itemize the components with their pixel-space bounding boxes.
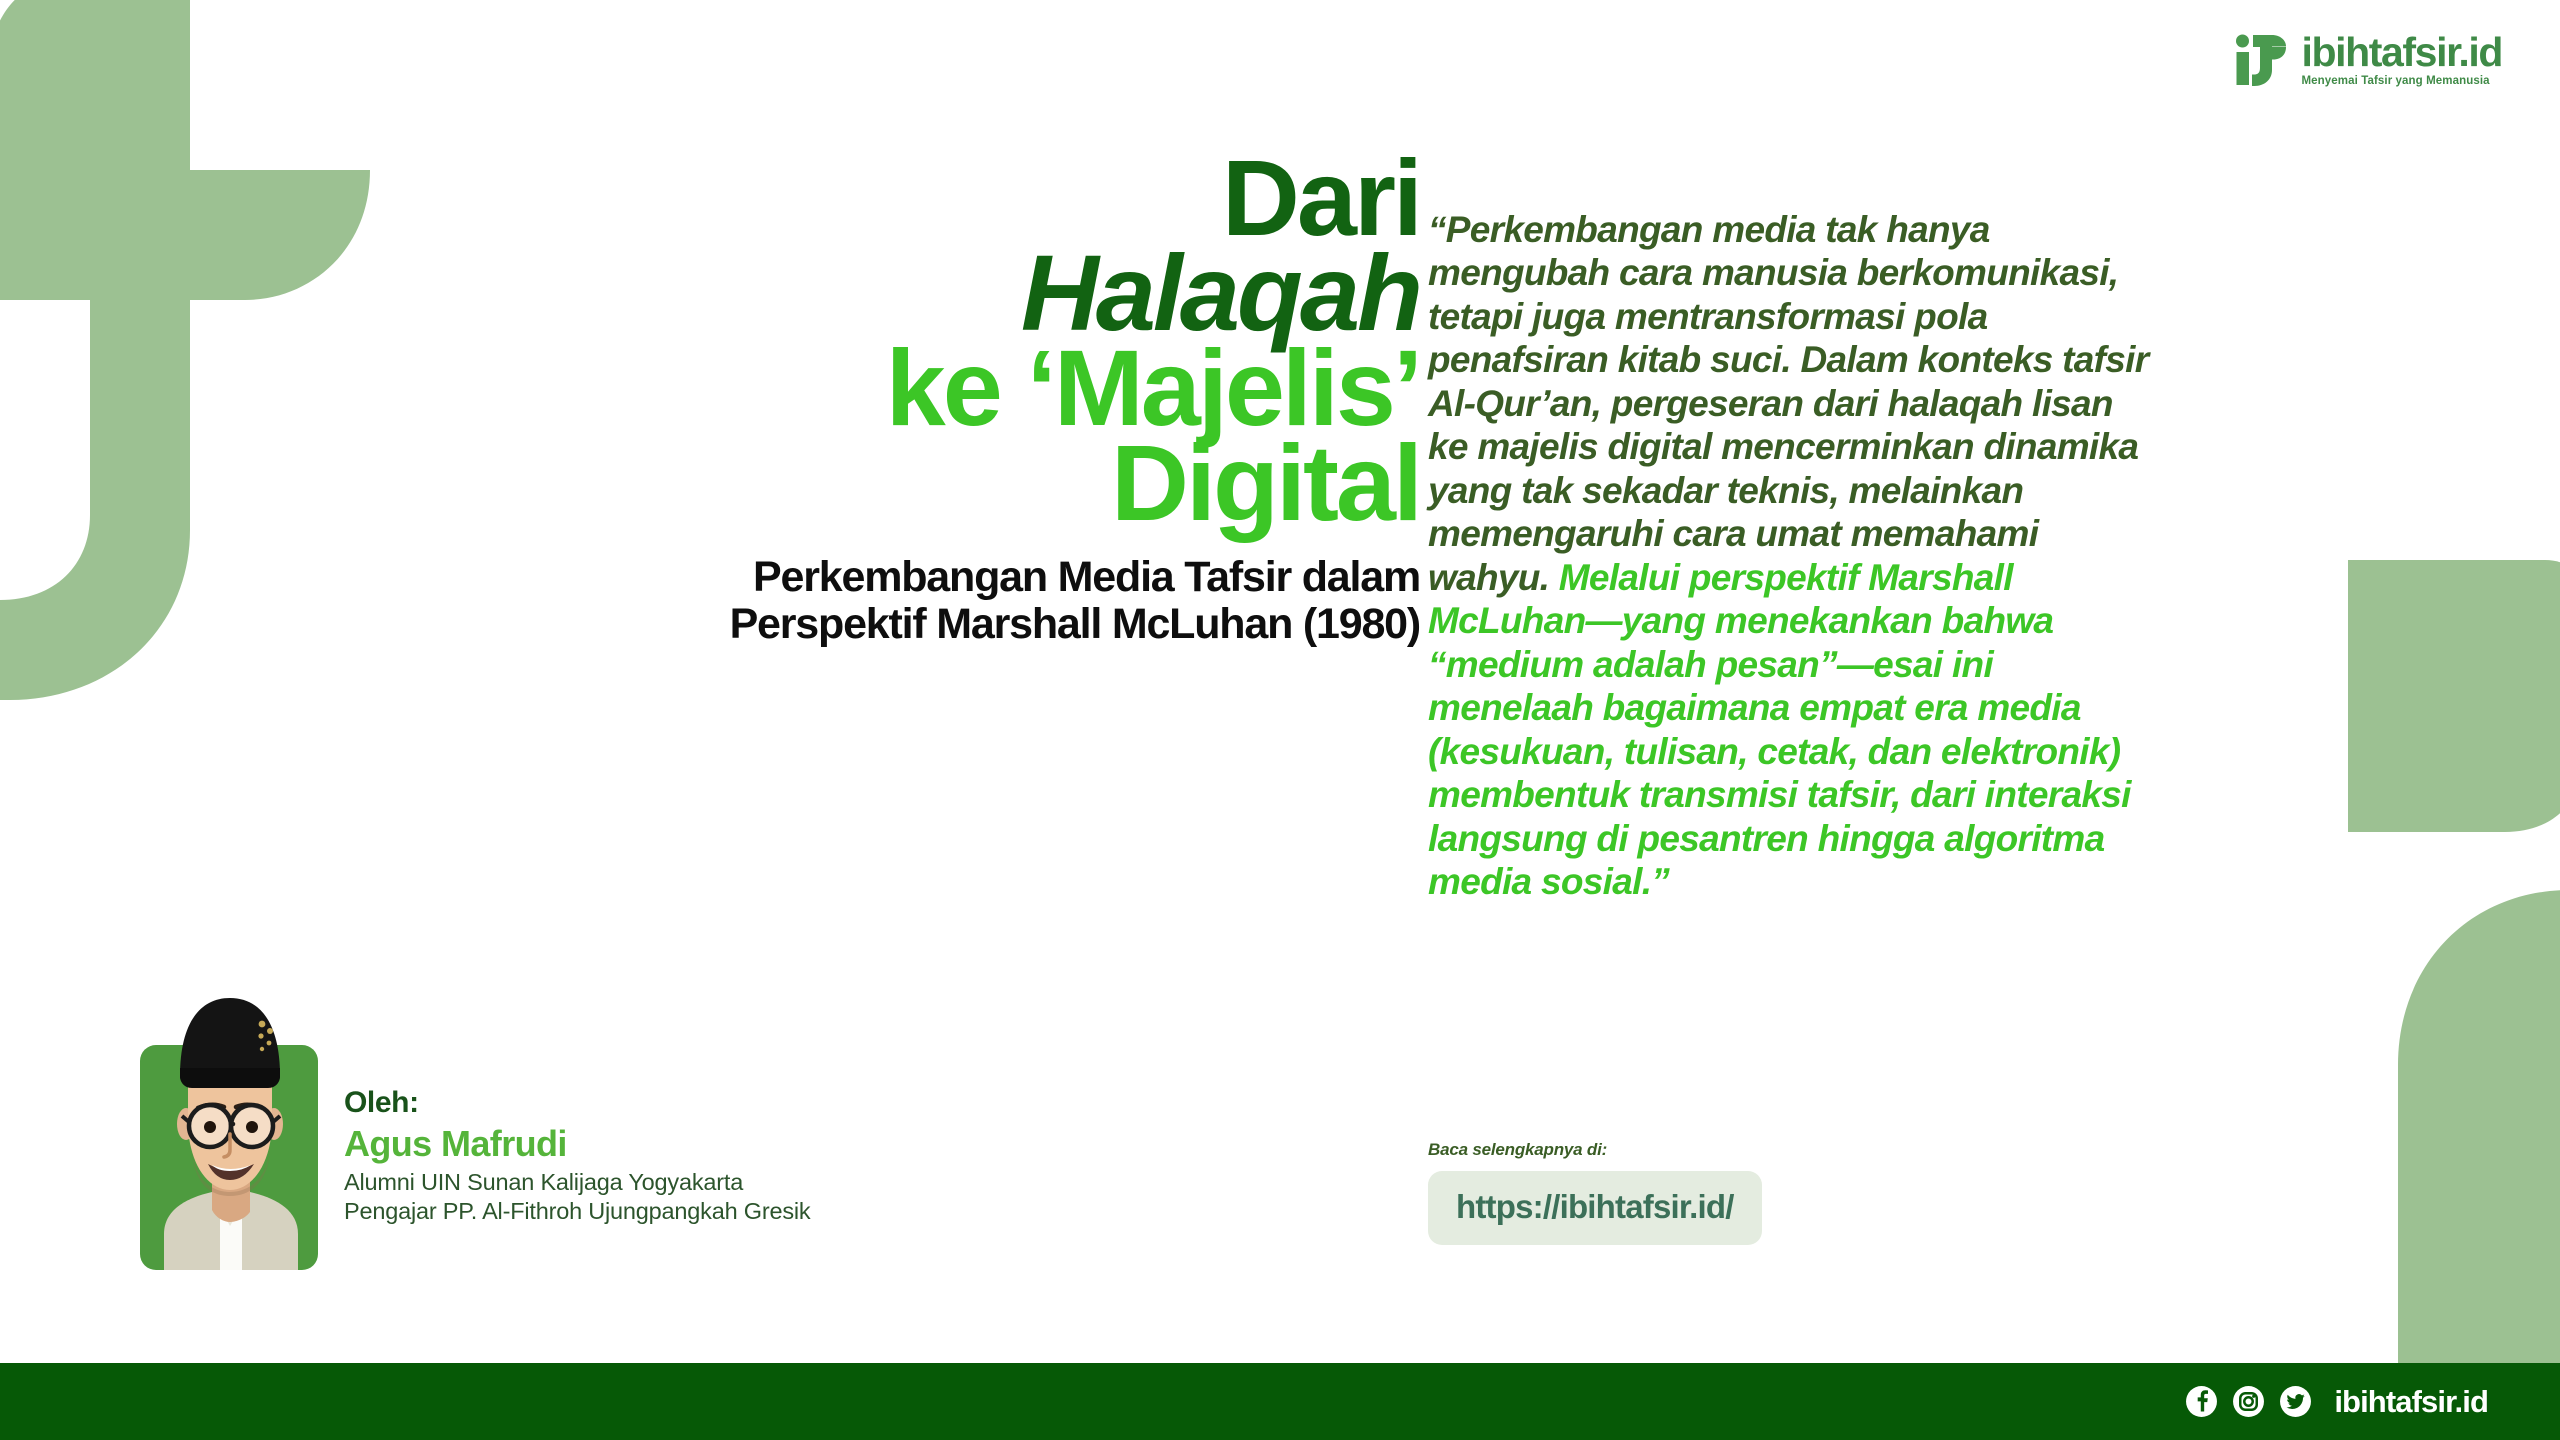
author-name: Agus Mafrudi <box>344 1123 810 1164</box>
read-more-link-pill[interactable]: https://ibihtafsir.id/ <box>1428 1171 1762 1245</box>
title-line-4: Digital <box>560 435 1420 530</box>
logo-wordmark: ibihtafsir.id <box>2302 32 2503 73</box>
logo-text: ibihtafsir.id Menyemai Tafsir yang Meman… <box>2302 32 2503 88</box>
author-label: Oleh: <box>344 1086 810 1121</box>
quote-text: “Perkembangan media tak hanya mengubah c… <box>1428 208 2158 904</box>
read-more-block: Baca selengkapnya di: https://ibihtafsir… <box>1428 1140 1758 1245</box>
author-affiliation-line-1: Alumni UIN Sunan Kalijaga Yogyakarta <box>344 1168 810 1197</box>
title-line-1: Dari <box>560 150 1420 245</box>
page-title: Dari Halaqah ke ‘Majelis’ Digital <box>560 150 1420 530</box>
author-block: Oleh: Agus Mafrudi Alumni UIN Sunan Kali… <box>140 960 810 1270</box>
quote-block: “Perkembangan media tak hanya mengubah c… <box>1428 208 2158 904</box>
brand-logo[interactable]: ibihtafsir.id Menyemai Tafsir yang Meman… <box>2234 32 2503 88</box>
quote-plain-part: “Perkembangan media tak hanya mengubah c… <box>1428 209 2148 598</box>
author-affiliation-line-2: Pengajar PP. Al-Fithroh Ujungpangkah Gre… <box>344 1197 810 1226</box>
avatar <box>134 964 326 1270</box>
read-more-url[interactable]: https://ibihtafsir.id/ <box>1456 1188 1734 1225</box>
author-text: Oleh: Agus Mafrudi Alumni UIN Sunan Kali… <box>344 960 810 1225</box>
page-subtitle: Perkembangan Media Tafsir dalam Perspekt… <box>560 554 1420 647</box>
title-line-2: Halaqah <box>560 245 1420 340</box>
social-links <box>2185 1385 2312 1418</box>
ibihtafsir-logo-mark-icon <box>2234 33 2288 87</box>
twitter-icon[interactable] <box>2279 1385 2312 1418</box>
poster-canvas: ibihtafsir.id Menyemai Tafsir yang Meman… <box>0 0 2560 1440</box>
logo-tagline: Menyemai Tafsir yang Memanusia <box>2302 76 2503 88</box>
read-more-label: Baca selengkapnya di: <box>1428 1140 1758 1160</box>
title-line-3: ke ‘Majelis’ <box>560 340 1420 435</box>
author-affiliation: Alumni UIN Sunan Kalijaga Yogyakarta Pen… <box>344 1168 810 1225</box>
facebook-icon[interactable] <box>2185 1385 2218 1418</box>
background-t-mark-icon <box>0 0 370 770</box>
instagram-icon[interactable] <box>2232 1385 2265 1418</box>
author-photo-frame <box>140 960 318 1270</box>
footer-bar: ibihtafsir.id <box>0 1363 2560 1440</box>
background-i-mark-icon <box>2320 520 2560 1370</box>
quote-highlight-part: Melalui perspektif Marshall McLuhan—yang… <box>1428 557 2131 902</box>
title-block: Dari Halaqah ke ‘Majelis’ Digital Perkem… <box>560 150 1420 647</box>
footer-handle: ibihtafsir.id <box>2334 1384 2488 1420</box>
